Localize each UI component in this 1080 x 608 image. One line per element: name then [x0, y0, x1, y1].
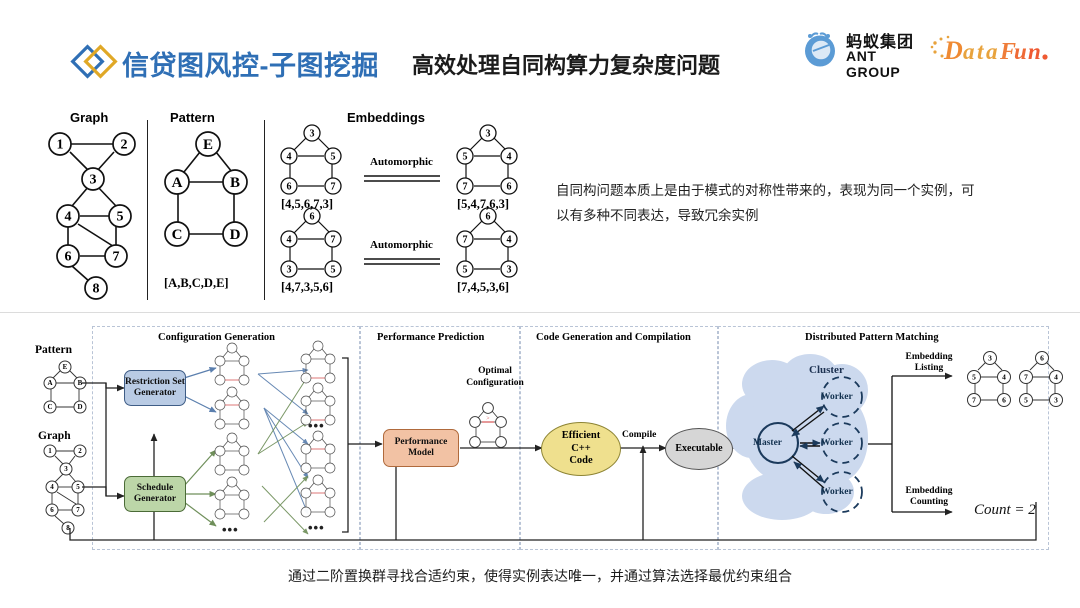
svg-text:B: B	[78, 379, 83, 387]
ant-group-logo: 蚂蚁集团 ANT GROUP	[800, 28, 932, 70]
page-subtitle: 高效处理自同构算力复杂度问题	[412, 48, 720, 80]
performance-label-line2: Model	[395, 448, 448, 459]
svg-text:n: n	[1028, 39, 1041, 64]
slide-root: 信贷图风控-子图挖掘 高效处理自同构算力复杂度问题 蚂蚁集团 ANT GROUP	[0, 0, 1080, 608]
svg-text:5: 5	[331, 152, 336, 163]
svg-text:1: 1	[57, 138, 64, 153]
svg-text:6: 6	[65, 250, 72, 265]
svg-text:6: 6	[310, 212, 315, 223]
svg-text:3: 3	[988, 354, 992, 363]
embeddings-column-title: Embeddings	[347, 110, 425, 125]
svg-text:E: E	[203, 137, 213, 153]
schedule-label-line1: Schedule	[134, 483, 176, 494]
svg-text:2: 2	[78, 447, 82, 455]
embedding-listing-label-line2: Listing	[894, 363, 964, 373]
svg-text:7: 7	[331, 182, 336, 193]
divider-pattern-embeddings	[264, 120, 265, 300]
svg-text:7: 7	[76, 506, 80, 514]
svg-text:8: 8	[93, 282, 100, 297]
optimal-config-label-line1: Optimal	[460, 366, 530, 376]
svg-text:4: 4	[507, 235, 512, 246]
svg-text:3: 3	[64, 465, 68, 473]
efficient-label-line3: Code	[562, 455, 601, 468]
svg-text:D: D	[943, 36, 963, 65]
footnote-text: 通过二阶置换群寻找合适约束，使得实例表达唯一，并通过算法选择最优约束组合	[0, 566, 1080, 586]
ant-logo-text-en: ANT GROUP	[846, 48, 932, 80]
ant-group-icon	[800, 28, 842, 68]
double-diamond-icon	[68, 44, 120, 80]
svg-text:C: C	[47, 403, 52, 411]
side-note-text: 自同构问题本质上是由于模式的对称性带来的，表现为同一个实例，可以有多种不同表达，…	[556, 178, 976, 228]
worker-label-1: Worker	[821, 392, 853, 402]
svg-text:1: 1	[48, 447, 52, 455]
svg-text:2: 2	[121, 138, 128, 153]
svg-text:3: 3	[287, 265, 292, 276]
pattern-column-title: Pattern	[170, 110, 215, 125]
cluster-label: Cluster	[809, 364, 844, 376]
svg-text:4: 4	[1002, 373, 1006, 382]
svg-text:t: t	[977, 39, 984, 64]
efficient-cpp-code-ellipse[interactable]: Efficient C++ Code	[541, 422, 621, 476]
svg-text:>: >	[486, 416, 490, 422]
svg-text:4: 4	[287, 235, 292, 246]
embedding-listing-label-line1: Embedding	[894, 352, 964, 362]
svg-text:7: 7	[1024, 373, 1028, 382]
svg-text:3: 3	[90, 173, 97, 188]
svg-text:A: A	[172, 175, 183, 191]
svg-text:A: A	[47, 379, 52, 387]
executable-ellipse[interactable]: Executable	[665, 428, 733, 470]
datafun-logo: D a t a F u n	[930, 34, 1052, 66]
worker-label-3: Worker	[821, 487, 853, 497]
svg-text:6: 6	[287, 182, 292, 193]
svg-text:7: 7	[331, 235, 336, 246]
svg-text:5: 5	[463, 152, 468, 163]
svg-text:B: B	[230, 175, 240, 191]
svg-text:5: 5	[331, 265, 336, 276]
performance-label-line1: Performance	[395, 437, 448, 448]
svg-text:7: 7	[463, 182, 468, 193]
efficient-label-line1: Efficient	[562, 430, 601, 443]
ellipsis-right-col-1: •••	[308, 418, 325, 433]
svg-text:C: C	[172, 227, 183, 243]
automorphic-label-bottom: Automorphic	[370, 239, 433, 251]
svg-text:5: 5	[463, 265, 468, 276]
svg-text:6: 6	[486, 212, 491, 223]
svg-text:a: a	[986, 39, 998, 64]
svg-text:3: 3	[507, 265, 512, 276]
svg-text:6: 6	[50, 506, 54, 514]
embedding-caption-4: [7,4,5,3,6]	[457, 280, 509, 295]
restriction-set-generator-box[interactable]: Restriction Set Generator	[124, 370, 186, 406]
pipeline-figure: Configuration Generation Performance Pre…	[30, 326, 1050, 554]
svg-text:4: 4	[65, 210, 72, 225]
automorphic-label-top: Automorphic	[370, 156, 433, 168]
svg-text:4: 4	[1054, 373, 1058, 382]
pattern-diagram: E AB CD	[160, 130, 255, 260]
svg-text:5: 5	[76, 483, 80, 491]
svg-text:3: 3	[310, 129, 315, 140]
svg-text:4: 4	[50, 483, 54, 491]
svg-text:3: 3	[486, 129, 491, 140]
performance-model-box[interactable]: Performance Model	[383, 429, 459, 467]
svg-text:E: E	[63, 363, 68, 371]
ellipsis-left-col: •••	[222, 522, 239, 537]
svg-text:5: 5	[117, 210, 124, 225]
graph-diagram: 12 3 45 67 8	[46, 128, 146, 300]
count-result-label: Count = 2	[974, 502, 1036, 519]
svg-text:5: 5	[972, 373, 976, 382]
slide-header: 信贷图风控-子图挖掘 高效处理自同构算力复杂度问题 蚂蚁集团 ANT GROUP	[0, 0, 1080, 100]
graph-column-title: Graph	[70, 110, 108, 125]
divider-graph-pattern	[147, 120, 148, 300]
svg-text:7: 7	[972, 396, 976, 405]
svg-text:6: 6	[1002, 396, 1006, 405]
schedule-generator-box[interactable]: Schedule Generator	[124, 476, 186, 512]
svg-text:u: u	[1014, 39, 1027, 64]
svg-text:3: 3	[1054, 396, 1058, 405]
restriction-label-line1: Restriction Set	[125, 377, 185, 388]
svg-text:7: 7	[463, 235, 468, 246]
svg-text:7: 7	[113, 250, 120, 265]
top-figure: Graph Pattern Embeddings	[42, 104, 542, 300]
svg-text:D: D	[230, 227, 241, 243]
embedding-caption-2: [5,4,7,6,3]	[457, 197, 509, 212]
embedding-counting-label-line2: Counting	[894, 497, 964, 507]
embedding-caption-3: [4,7,3,5,6]	[281, 280, 333, 295]
svg-text:a: a	[963, 39, 975, 64]
embedding-caption-1: [4,5,6,7,3]	[281, 197, 333, 212]
svg-text:6: 6	[1040, 354, 1044, 363]
pattern-caption: [A,B,C,D,E]	[164, 276, 229, 291]
svg-text:4: 4	[507, 152, 512, 163]
restriction-label-line2: Generator	[125, 388, 185, 399]
embedding-counting-label-line1: Embedding	[894, 486, 964, 496]
svg-text:6: 6	[507, 182, 512, 193]
worker-label-2: Worker	[821, 438, 853, 448]
svg-text:5: 5	[1024, 396, 1028, 405]
schedule-label-line2: Generator	[134, 494, 176, 505]
section-divider	[0, 312, 1080, 313]
datafun-icon: D a t a F u n	[930, 34, 1052, 66]
svg-text:D: D	[77, 403, 82, 411]
master-label: Master	[753, 438, 782, 448]
compile-label: Compile	[622, 430, 656, 440]
page-title: 信贷图风控-子图挖掘	[122, 44, 379, 83]
executable-label: Executable	[675, 443, 722, 455]
ellipsis-right-col-2: •••	[308, 520, 325, 535]
svg-text:4: 4	[287, 152, 292, 163]
efficient-label-line2: C++	[562, 443, 601, 456]
optimal-config-label-line2: Configuration	[450, 378, 540, 388]
